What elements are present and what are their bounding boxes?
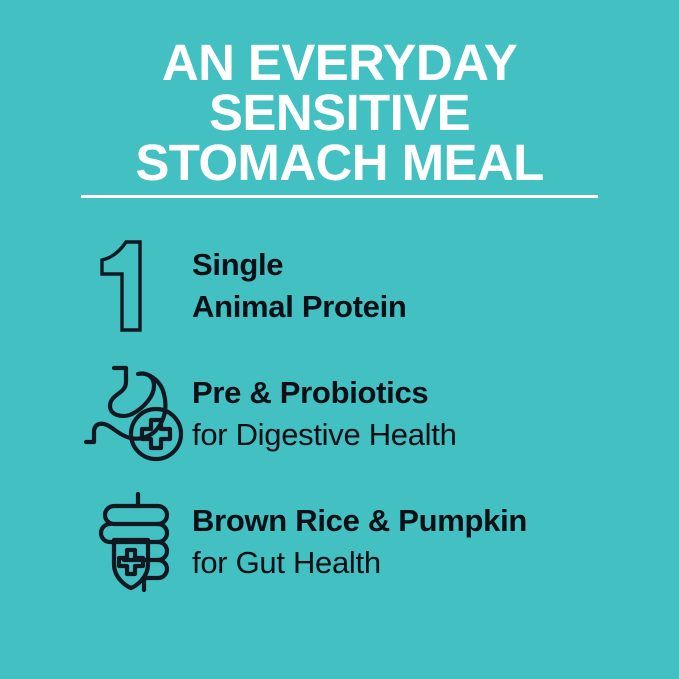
headline-line-1: AN EVERYDAY	[0, 38, 679, 88]
list-item-text: Single Animal Protein	[192, 244, 407, 328]
list-item-line-2: for Digestive Health	[192, 414, 457, 456]
page-title: AN EVERYDAY SENSITIVE STOMACH MEAL	[0, 38, 679, 188]
headline-line-3: STOMACH MEAL	[0, 138, 679, 188]
stomach-plus-icon	[84, 360, 192, 468]
title-divider	[81, 195, 598, 198]
feature-list: Single Animal Protein Pre & Probiotics f…	[0, 222, 679, 606]
number-one-outline-icon	[92, 232, 192, 340]
list-item-text: Brown Rice & Pumpkin for Gut Health	[192, 500, 527, 584]
intestine-shield-icon	[84, 488, 192, 596]
list-item: Brown Rice & Pumpkin for Gut Health	[0, 478, 679, 606]
list-item-text: Pre & Probiotics for Digestive Health	[192, 372, 457, 456]
list-item-line-1: Brown Rice & Pumpkin	[192, 500, 527, 542]
list-item-line-2: for Gut Health	[192, 542, 527, 584]
list-item: Pre & Probiotics for Digestive Health	[0, 350, 679, 478]
list-item-line-1: Single	[192, 244, 407, 286]
list-item-line-1: Pre & Probiotics	[192, 372, 457, 414]
list-item: Single Animal Protein	[0, 222, 679, 350]
product-feature-card: AN EVERYDAY SENSITIVE STOMACH MEAL Singl…	[0, 0, 679, 679]
headline-line-2: SENSITIVE	[0, 88, 679, 138]
list-item-line-2: Animal Protein	[192, 286, 407, 328]
